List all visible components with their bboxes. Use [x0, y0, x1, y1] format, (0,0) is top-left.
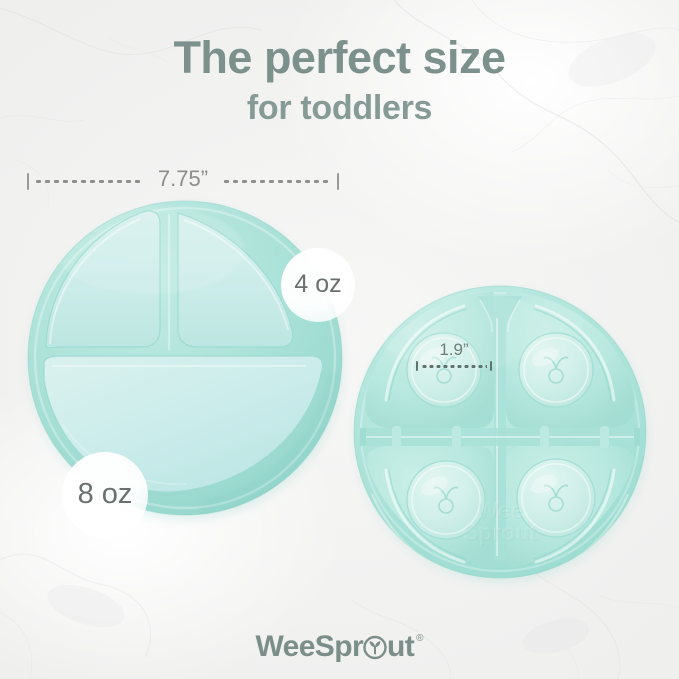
svg-text:Sprout: Sprout — [464, 520, 538, 546]
dimension-end-cap-left-small — [416, 361, 418, 371]
headline-block: The perfect size for toddlers — [0, 34, 679, 130]
brand-logo: WeeSpr ut ® — [0, 632, 679, 662]
sprout-icon — [362, 634, 388, 660]
dimension-suction-cup: 1.9” — [416, 341, 492, 370]
dimension-dotted-line-small — [421, 365, 487, 368]
headline-secondary: for toddlers — [0, 86, 679, 130]
dimension-plate-width: 7.75” — [27, 168, 339, 194]
registered-trademark-mark: ® — [416, 633, 423, 644]
dimension-dotted-line-left — [34, 180, 144, 183]
capacity-badge-8oz: 8 oz — [62, 452, 148, 538]
capacity-badge-8oz-label: 8 oz — [78, 478, 133, 511]
dimension-dotted-line-right — [222, 180, 332, 183]
divider-channel-horizontal — [360, 426, 640, 448]
dimension-suction-cup-label: 1.9” — [416, 341, 492, 358]
plate-back-view: Wee Sprout Wee Sprout — [354, 286, 660, 600]
dimension-end-cap-left — [27, 173, 29, 190]
capacity-badge-4oz: 4 oz — [281, 248, 355, 322]
headline-primary: The perfect size — [0, 34, 679, 82]
dimension-plate-width-label: 7.75” — [149, 166, 217, 192]
capacity-badge-4oz-label: 4 oz — [294, 270, 341, 299]
brand-name-part-2: ut — [387, 632, 414, 662]
dimension-end-cap-right — [337, 173, 339, 190]
product-image-canvas: Wee Sprout Wee Sprout The perfect size f… — [0, 0, 679, 679]
brand-name-part-1: WeeSpr — [255, 632, 363, 662]
dimension-suction-cup-rule — [416, 362, 492, 370]
dimension-end-cap-right-small — [490, 361, 492, 371]
